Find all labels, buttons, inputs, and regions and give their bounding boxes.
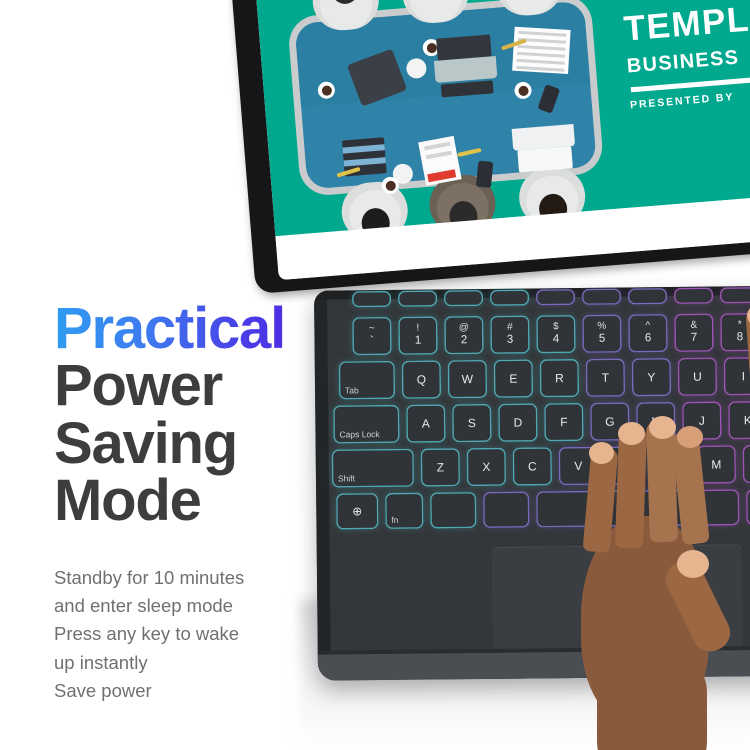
left-pinky-tip <box>677 426 703 448</box>
right-hand <box>743 314 750 738</box>
key-upper-legend: @ <box>459 323 469 334</box>
key-1[interactable]: !1 <box>398 316 437 354</box>
key-u[interactable]: U <box>678 358 717 396</box>
key-legend: A <box>422 417 430 431</box>
key-q[interactable]: Q <box>402 360 441 398</box>
key-d[interactable]: D <box>498 403 537 441</box>
laptop-bottom <box>512 124 577 173</box>
key-upper-legend: * <box>738 320 742 331</box>
keyboard-number-row[interactable]: ~`!1@2#3$4%5^6&7*8(9 <box>352 313 750 356</box>
key-lower-legend: ` <box>370 335 374 348</box>
key-legend: R <box>555 371 564 385</box>
key-modifier-label: Shift <box>338 473 355 483</box>
key-f[interactable]: F <box>544 403 583 441</box>
key-legend: T <box>602 371 609 385</box>
left-middle-tip <box>618 422 645 445</box>
key-z[interactable]: Z <box>421 448 460 486</box>
key-legend: X <box>482 460 490 474</box>
key-s[interactable]: S <box>452 404 491 442</box>
key-r[interactable]: R <box>540 359 579 397</box>
key-upper-legend: ~ <box>369 324 375 335</box>
left-index-tip <box>589 442 614 464</box>
torso <box>408 0 464 25</box>
key-w[interactable]: W <box>448 360 487 398</box>
key-3[interactable]: #3 <box>490 315 529 353</box>
left-ring-tip <box>649 416 676 439</box>
key-shift[interactable]: Shift <box>332 449 414 488</box>
person-top-left <box>311 0 382 36</box>
key-f8[interactable] <box>674 288 713 304</box>
promo-image-canvas: Practical Power Saving Mode Standby for … <box>0 0 750 750</box>
key-f9[interactable] <box>720 287 750 303</box>
slide-title-block: POWER TEMPLATE BUSINESS PRESENTED BY <box>619 0 750 112</box>
key-e[interactable]: E <box>494 359 533 397</box>
key-legend: W <box>462 372 473 386</box>
key-lower-legend: 4 <box>553 333 560 346</box>
key-lower-legend: 3 <box>507 333 514 346</box>
key-modifier-label: Tab <box>345 385 359 395</box>
key-legend: Q <box>417 373 426 387</box>
key-legend: U <box>693 370 702 384</box>
key-y[interactable]: Y <box>632 358 671 396</box>
key-f5[interactable] <box>536 289 575 305</box>
key-x[interactable]: X <box>467 448 506 486</box>
key-c[interactable]: C <box>513 447 552 485</box>
left-thumb-tip <box>677 550 709 578</box>
report-paper <box>418 136 461 186</box>
key-legend: J <box>699 414 705 428</box>
key-upper-legend: ! <box>416 324 419 335</box>
torso <box>318 0 374 32</box>
key-legend: E <box>509 372 517 386</box>
bar-chart-on-paper <box>427 169 456 182</box>
key-6[interactable]: ^6 <box>628 314 667 352</box>
fn-key-label: fn <box>391 515 398 525</box>
key-modifier-label: Caps Lock <box>339 429 379 439</box>
key-legend: C <box>528 459 537 473</box>
tablet-display: POWER TEMPLATE BUSINESS PRESENTED BY <box>254 0 750 280</box>
left-wrist <box>597 652 707 750</box>
ctrl-key[interactable] <box>430 492 476 528</box>
key-legend: D <box>513 416 522 430</box>
key-lower-legend: 6 <box>645 332 652 345</box>
alt-key[interactable] <box>483 491 529 527</box>
globe-icon-key[interactable]: ⊕ <box>336 493 378 529</box>
calendar-sheet <box>512 27 571 74</box>
key-4[interactable]: $4 <box>536 315 575 353</box>
key-f2[interactable] <box>398 290 437 306</box>
smartphone <box>476 161 493 188</box>
left-middle-finger <box>615 428 647 549</box>
key-legend: Z <box>437 460 444 474</box>
key-tab[interactable]: Tab <box>339 361 395 400</box>
right-index-finger <box>745 309 750 415</box>
key-legend: Y <box>647 370 655 384</box>
key-upper-legend: $ <box>553 322 559 333</box>
key-a[interactable]: A <box>406 404 445 442</box>
key-7[interactable]: &7 <box>674 314 713 352</box>
key-upper-legend: % <box>597 322 606 333</box>
laptop-top <box>432 34 497 83</box>
key-5[interactable]: %5 <box>582 315 621 353</box>
meeting-illustration <box>268 0 619 236</box>
key-lower-legend: 5 <box>599 332 606 345</box>
key-caps-lock[interactable]: Caps Lock <box>333 405 399 444</box>
key-2[interactable]: @2 <box>444 316 483 354</box>
key-legend: G <box>605 415 614 429</box>
key-f1[interactable] <box>352 291 391 307</box>
key-lower-legend: 2 <box>461 334 468 347</box>
key-legend: F <box>560 415 567 429</box>
key-legend: S <box>468 416 476 430</box>
laptop-screen <box>517 146 573 172</box>
key-f3[interactable] <box>444 290 483 306</box>
key-upper-legend: ^ <box>645 321 650 332</box>
left-hand <box>573 440 750 740</box>
key-lower-legend: 1 <box>415 334 422 347</box>
key-f4[interactable] <box>490 289 529 305</box>
tablet-screen-lid: POWER TEMPLATE BUSINESS PRESENTED BY <box>229 0 750 294</box>
key-t[interactable]: T <box>586 358 625 396</box>
slide-title-line-2: TEMPLATE <box>622 0 750 51</box>
keyboard-qwerty-row[interactable]: TabQWERTYUIO <box>339 357 750 400</box>
key-f7[interactable] <box>628 288 667 304</box>
fn-key[interactable]: fn <box>385 493 423 529</box>
base-left-edge <box>314 291 331 681</box>
key-upper-legend: # <box>507 323 513 334</box>
tablet-with-keyboard-device: POWER TEMPLATE BUSINESS PRESENTED BY <box>238 0 750 688</box>
presentation-slide: POWER TEMPLATE BUSINESS PRESENTED BY <box>254 0 750 236</box>
key-lower-legend: 7 <box>691 331 698 344</box>
key-upper-legend: & <box>690 321 697 332</box>
key-`[interactable]: ~` <box>352 317 391 355</box>
globe-icon: ⊕ <box>352 504 362 518</box>
key-f6[interactable] <box>582 289 621 305</box>
